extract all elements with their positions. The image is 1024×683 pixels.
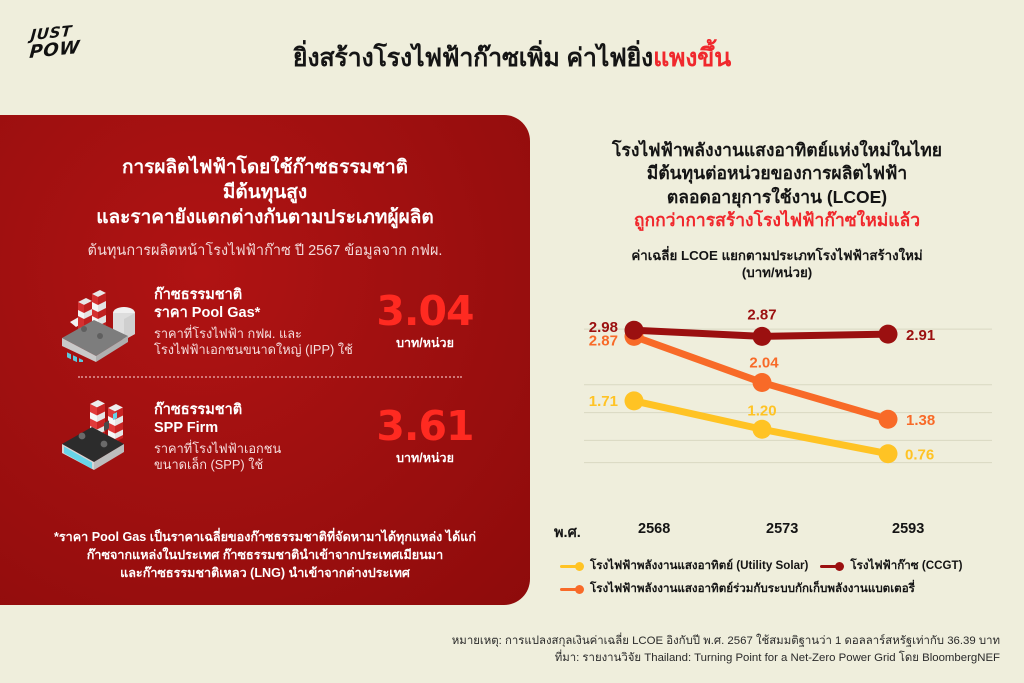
gas-price-title: ก๊าซธรรมชาติ ราคา Pool Gas* (154, 286, 362, 323)
chart-data-point (753, 420, 772, 439)
chart-series (625, 321, 898, 463)
gas-panel-subheading: ต้นทุนการผลิตหน้าโรงไฟฟ้าก๊าซ ปี 2567 ข้… (34, 239, 496, 262)
lcoe-heading: โรงไฟฟ้าพลังงานแสงอาทิตย์แห่งใหม่ในไทย ม… (530, 139, 1024, 233)
legend-label-solar: โรงไฟฟ้าพลังงานแสงอาทิตย์ (Utility Solar… (590, 557, 808, 575)
gas-price-unit: บาท/หน่วย (362, 448, 488, 468)
chart-legend: โรงไฟฟ้าพลังงานแสงอาทิตย์ (Utility Solar… (560, 557, 1024, 603)
chart-value-label: 2.87 (589, 332, 618, 349)
chart-value-label: 2.87 (747, 306, 776, 323)
lcoe-panel: โรงไฟฟ้าพลังงานแสงอาทิตย์แห่งใหม่ในไทย ม… (530, 115, 1024, 615)
chart-value-label: 0.76 (905, 447, 934, 464)
x-tick-label: 2573 (766, 521, 798, 537)
chart-data-point (625, 321, 644, 340)
chart-gridlines (584, 329, 992, 463)
legend-label-solar-battery: โรงไฟฟ้าพลังงานแสงอาทิตย์ร่วมกับระบบกักเ… (590, 580, 915, 598)
gas-cost-panel: การผลิตไฟฟ้าโดยใช้ก๊าซธรรมชาติ มีต้นทุนส… (0, 115, 530, 605)
gas-price-row: ก๊าซธรรมชาติ SPP Firm ราคาที่โรงไฟฟ้าเอก… (34, 398, 496, 476)
legend-marker-solar (560, 560, 584, 572)
x-axis-prefix: พ.ศ. (554, 521, 581, 544)
chart-data-point (753, 373, 772, 392)
chart-x-axis: พ.ศ. 2568 2573 2593 (548, 521, 1018, 547)
page-title-highlight: แพงขึ้น (653, 44, 731, 72)
source-note-line-2: ที่มา: รายงานวิจัย Thailand: Turning Poi… (0, 650, 1000, 667)
pool-gas-footnote: *ราคา Pool Gas เป็นราคาเฉลี่ยของก๊าซธรรม… (26, 529, 504, 583)
chart-value-label: 2.04 (749, 355, 779, 372)
x-tick-label: 2568 (638, 521, 670, 537)
lcoe-line-chart: 2.982.872.912.872.041.381.711.200.76 (548, 300, 1008, 530)
gas-price-desc: ราคาที่โรงไฟฟ้า กฟผ. และ โรงไฟฟ้าเอกชนขน… (154, 326, 362, 359)
gas-price-unit: บาท/หน่วย (362, 333, 488, 353)
gas-price-text: ก๊าซธรรมชาติ ราคา Pool Gas* ราคาที่โรงไฟ… (150, 286, 362, 359)
legend-label-ccgt: โรงไฟฟ้าก๊าซ (CCGT) (850, 557, 962, 575)
chart-value-label: 1.20 (747, 402, 776, 419)
page-title-black: ยิ่งสร้างโรงไฟฟ้าก๊าซเพิ่ม ค่าไฟยิ่ง (293, 44, 653, 72)
power-plant-small-icon (42, 398, 150, 476)
chart-data-point (879, 444, 898, 463)
chart-value-label: 1.38 (906, 412, 935, 429)
chart-data-point (879, 325, 898, 344)
gas-price-value: 3.61 (362, 407, 488, 446)
gas-price-title: ก๊าซธรรมชาติ SPP Firm (154, 401, 362, 438)
gas-price-value-block: 3.61 บาท/หน่วย (362, 407, 488, 468)
legend-row: โรงไฟฟ้าพลังงานแสงอาทิตย์ร่วมกับระบบกักเ… (560, 580, 1024, 598)
legend-marker-ccgt (820, 560, 844, 572)
chart-subtitle: ค่าเฉลี่ย LCOE แยกตามประเภทโรงไฟฟ้าสร้าง… (530, 247, 1024, 282)
divider (78, 376, 462, 378)
source-note-line-1: หมายเหตุ: การแปลงสกุลเงินค่าเฉลี่ย LCOE … (0, 633, 1000, 650)
chart-value-label: 2.91 (906, 327, 935, 344)
legend-item-solar-battery[interactable]: โรงไฟฟ้าพลังงานแสงอาทิตย์ร่วมกับระบบกักเ… (560, 580, 915, 598)
page-title: ยิ่งสร้างโรงไฟฟ้าก๊าซเพิ่ม ค่าไฟยิ่งแพงข… (0, 38, 1024, 78)
chart-data-point (625, 391, 644, 410)
power-plant-large-icon (42, 282, 150, 362)
gas-price-desc: ราคาที่โรงไฟฟ้าเอกชน ขนาดเล็ก (SPP) ใช้ (154, 441, 362, 474)
legend-row: โรงไฟฟ้าพลังงานแสงอาทิตย์ (Utility Solar… (560, 557, 1024, 575)
x-tick-label: 2593 (892, 521, 924, 537)
gas-price-row: ก๊าซธรรมชาติ ราคา Pool Gas* ราคาที่โรงไฟ… (34, 282, 496, 362)
gas-price-value-block: 3.04 บาท/หน่วย (362, 292, 488, 353)
chart-data-point (753, 327, 772, 346)
infographic-page: JUST POW ยิ่งสร้างโรงไฟฟ้าก๊าซเพิ่ม ค่าไ… (0, 0, 1024, 683)
legend-item-ccgt[interactable]: โรงไฟฟ้าก๊าซ (CCGT) (820, 557, 962, 575)
gas-price-value: 3.04 (362, 292, 488, 331)
chart-data-point (879, 410, 898, 429)
gas-price-text: ก๊าซธรรมชาติ SPP Firm ราคาที่โรงไฟฟ้าเอก… (150, 401, 362, 474)
gas-panel-heading: การผลิตไฟฟ้าโดยใช้ก๊าซธรรมชาติ มีต้นทุนส… (34, 155, 496, 230)
source-note: หมายเหตุ: การแปลงสกุลเงินค่าเฉลี่ย LCOE … (0, 633, 1024, 667)
legend-marker-solar-battery (560, 583, 584, 595)
chart-value-label: 1.71 (589, 393, 618, 410)
lcoe-heading-black: โรงไฟฟ้าพลังงานแสงอาทิตย์แห่งใหม่ในไทย ม… (612, 140, 942, 207)
legend-item-solar[interactable]: โรงไฟฟ้าพลังงานแสงอาทิตย์ (Utility Solar… (560, 557, 808, 575)
lcoe-heading-highlight: ถูกกว่าการสร้างโรงไฟฟ้าก๊าซใหม่แล้ว (634, 210, 920, 230)
